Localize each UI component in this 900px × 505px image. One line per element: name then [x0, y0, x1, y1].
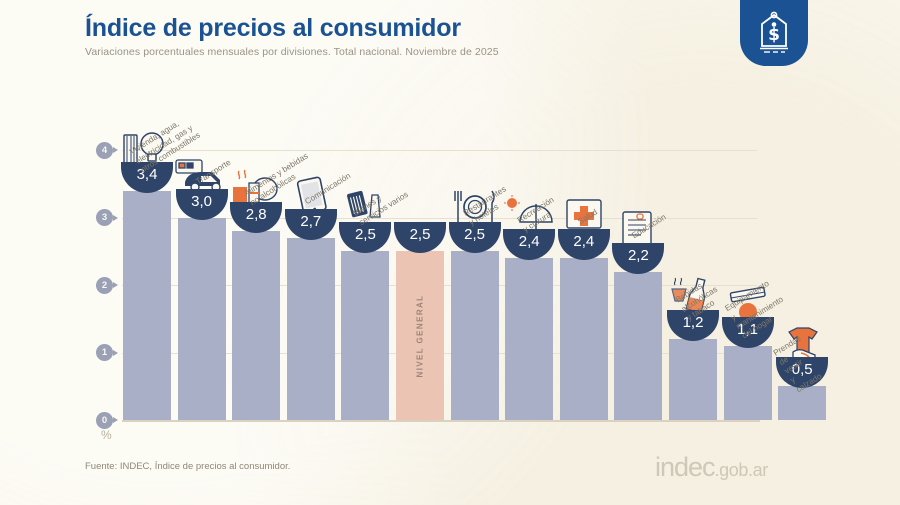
- indec-logo: indec.gob.ar: [655, 452, 768, 483]
- y-axis-tick: 0: [96, 412, 113, 429]
- category-label: Salud: [576, 208, 599, 228]
- bar[interactable]: [669, 339, 717, 420]
- gridline: [122, 150, 757, 151]
- value-badge: 2,5: [394, 222, 446, 253]
- bar[interactable]: [341, 251, 389, 420]
- bar[interactable]: [232, 231, 280, 420]
- category-label: Transporte: [194, 157, 233, 187]
- bar-general-level[interactable]: NIVEL GENERAL: [396, 251, 444, 420]
- bar[interactable]: [178, 218, 226, 421]
- plot-area: 432103,4Vivienda, agua, electricidad, ga…: [122, 150, 757, 420]
- value-badge: 2,7: [285, 209, 337, 240]
- category-label: Educación: [631, 212, 669, 241]
- axis-baseline: [122, 420, 760, 422]
- axis-unit-label: %: [101, 428, 112, 442]
- value-badge: 3,0: [176, 189, 228, 220]
- source-note: Fuente: INDEC, Índice de precios al cons…: [85, 461, 290, 472]
- y-axis-tick: 1: [96, 344, 113, 361]
- y-axis-tick: 3: [96, 209, 113, 226]
- value-badge: 2,5: [339, 222, 391, 253]
- bar-chart: 432103,4Vivienda, agua, electricidad, ga…: [0, 0, 900, 505]
- value-badge: 2,2: [612, 243, 664, 274]
- bar[interactable]: [724, 346, 772, 420]
- indec-wordmark: indec: [655, 452, 715, 482]
- indec-domain: .gob.ar: [715, 460, 768, 480]
- bar[interactable]: [614, 272, 662, 421]
- value-badge: 2,4: [558, 229, 610, 260]
- bar[interactable]: [451, 251, 499, 420]
- bar[interactable]: [505, 258, 553, 420]
- y-axis-tick: 4: [96, 142, 113, 159]
- general-level-label: NIVEL GENERAL: [416, 294, 425, 377]
- bar[interactable]: [560, 258, 608, 420]
- y-axis-tick: 2: [96, 277, 113, 294]
- bar[interactable]: [287, 238, 335, 420]
- bar[interactable]: [123, 191, 171, 421]
- category-label: Comunicación: [303, 171, 353, 208]
